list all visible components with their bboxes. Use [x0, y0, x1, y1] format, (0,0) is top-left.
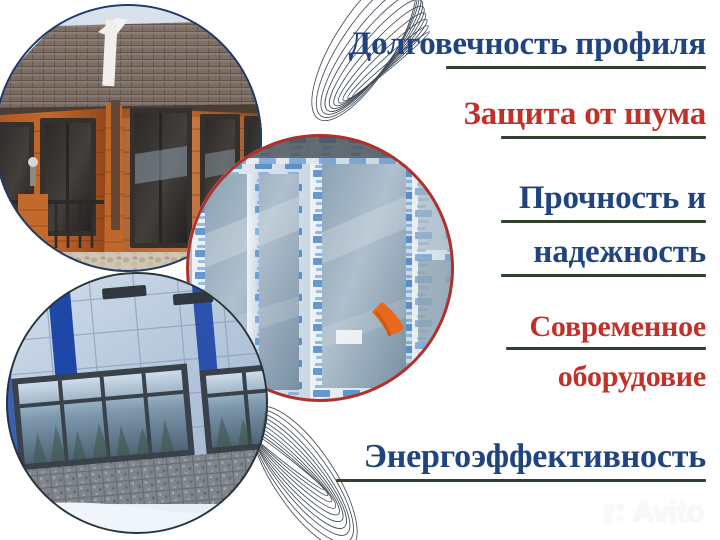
benefit-strength: Прочность и: [501, 182, 706, 223]
benefit-reliability-underline: [501, 274, 706, 277]
benefit-durability: Долговечность профиля: [349, 28, 706, 69]
benefit-reliability-label: надежность: [501, 236, 706, 269]
benefit-modern-equipment-line1: Современное: [506, 312, 706, 350]
building-facade-photo: [6, 272, 268, 534]
avito-logo-icon: [602, 502, 628, 524]
banner-root: Долговечность профиля Защита от шума Про…: [0, 0, 720, 540]
benefit-noise-protection: Защита от шума: [463, 98, 706, 139]
benefit-durability-label: Долговечность профиля: [349, 28, 706, 61]
benefit-energy-efficiency-label: Энергоэффективность: [336, 440, 706, 474]
benefit-modern-equipment-label-1: Современное: [506, 312, 706, 342]
benefit-modern-equipment-line2: оборудовие: [558, 362, 706, 392]
benefit-reliability: надежность: [501, 236, 706, 277]
avito-watermark: Avito: [602, 496, 704, 530]
benefit-durability-underline: [446, 66, 706, 69]
benefit-energy-efficiency: Энергоэффективность: [336, 440, 706, 482]
benefit-noise-protection-underline: [501, 136, 706, 139]
benefit-modern-equipment-label-2: оборудовие: [558, 362, 706, 392]
benefit-strength-underline: [501, 220, 706, 223]
avito-watermark-label: Avito: [633, 496, 704, 530]
benefit-modern-equipment-underline: [506, 347, 706, 350]
benefit-noise-protection-label: Защита от шума: [463, 98, 706, 131]
benefit-energy-efficiency-underline: [336, 479, 706, 482]
benefits-text-column: Долговечность профиля Защита от шума Про…: [236, 0, 706, 540]
photo-circle-building-facade: [6, 272, 268, 534]
benefit-strength-label: Прочность и: [501, 182, 706, 215]
